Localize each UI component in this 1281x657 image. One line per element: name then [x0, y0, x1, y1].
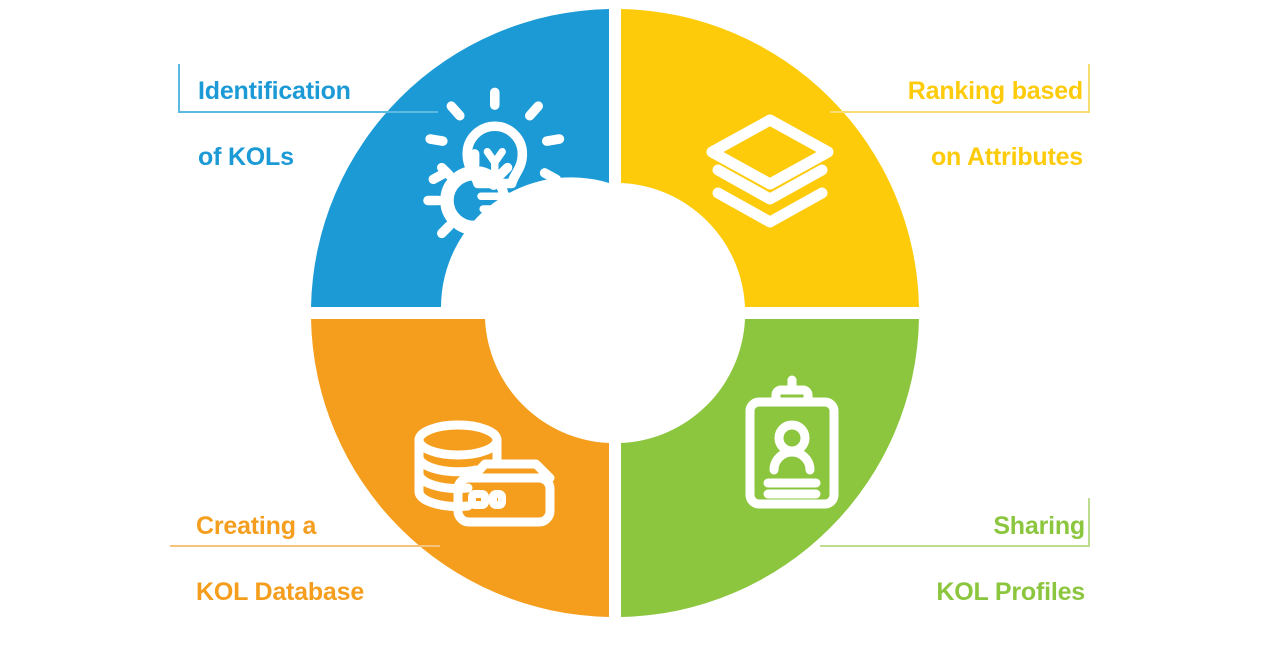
donut-svg [310, 8, 920, 618]
segment-identification-of-kols[interactable] [311, 9, 609, 307]
bracket-rule-identification-vertical [178, 64, 180, 112]
label-line-2: on Attributes [908, 141, 1083, 174]
label-line-2: KOL Profiles [936, 576, 1085, 609]
label-line-1: Identification [198, 75, 351, 108]
bracket-rule-ranking-vertical [1088, 64, 1090, 112]
label-creating-a-kol-database[interactable]: Creating a KOL Database [196, 477, 364, 642]
label-line-1: Creating a [196, 510, 364, 543]
segment-ranking-based-on-attributes[interactable] [621, 9, 919, 307]
bracket-rule-sharing-vertical [1088, 498, 1090, 546]
label-identification-of-kols[interactable]: Identification of KOLs [198, 42, 351, 207]
diagram-canvas: Identification of KOLs Ranking based on … [0, 0, 1281, 657]
label-line-1: Ranking based [908, 75, 1083, 108]
label-line-2: of KOLs [198, 141, 351, 174]
label-line-1: Sharing [936, 510, 1085, 543]
label-line-2: KOL Database [196, 576, 364, 609]
label-sharing-kol-profiles[interactable]: Sharing KOL Profiles [936, 477, 1085, 642]
label-ranking-based-on-attributes[interactable]: Ranking based on Attributes [908, 42, 1083, 207]
donut-chart [310, 8, 920, 618]
